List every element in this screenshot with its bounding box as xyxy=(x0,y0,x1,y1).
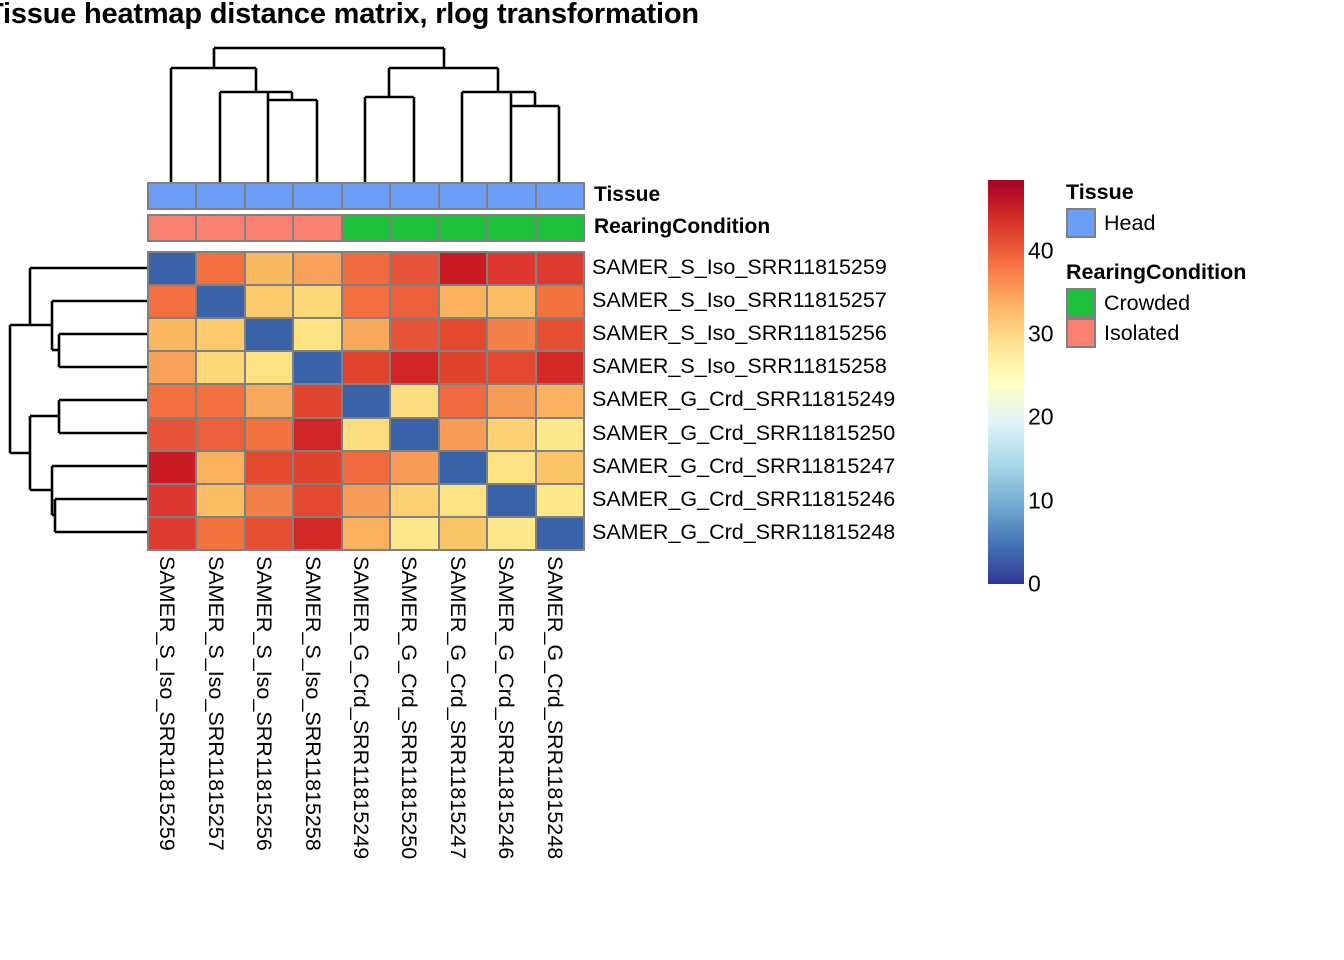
heatmap-cell xyxy=(293,252,341,285)
heatmap-cell xyxy=(342,252,390,285)
heatmap-cell xyxy=(439,484,487,517)
heatmap-cell xyxy=(196,451,244,484)
heatmap-cell xyxy=(293,351,341,384)
row-label: SAMER_G_Crd_SRR11815247 xyxy=(592,450,895,483)
heatmap-cell xyxy=(390,418,438,451)
legend-key-label: Crowded xyxy=(1104,291,1190,316)
heatmap-cell xyxy=(293,451,341,484)
heatmap-cell xyxy=(439,517,487,550)
row-label: SAMER_S_Iso_SRR11815259 xyxy=(592,251,895,284)
heatmap-cell xyxy=(536,484,584,517)
heatmap-cell xyxy=(245,351,293,384)
heatmap-cell xyxy=(148,351,196,384)
heatmap-cell xyxy=(196,484,244,517)
column-label: SAMER_G_Crd_SRR11815250 xyxy=(396,556,421,859)
row-label: SAMER_S_Iso_SRR11815258 xyxy=(592,350,895,383)
column-label: SAMER_S_Iso_SRR11815257 xyxy=(203,556,228,851)
heatmap-cell xyxy=(342,318,390,351)
heatmap-cell xyxy=(245,252,293,285)
heatmap-cell xyxy=(487,318,535,351)
heatmap-cell xyxy=(293,384,341,417)
page-title: Tissue heatmap distance matrix, rlog tra… xyxy=(0,0,986,31)
heatmap-cell xyxy=(245,418,293,451)
heatmap-cell xyxy=(196,318,244,351)
heatmap-cell xyxy=(439,318,487,351)
heatmap-cell xyxy=(536,384,584,417)
heatmap-cell xyxy=(148,418,196,451)
annotation-cell xyxy=(342,215,390,241)
heatmap-cell xyxy=(342,384,390,417)
heatmap-cell xyxy=(390,517,438,550)
heatmap-cell xyxy=(439,252,487,285)
colorbar-tick-label: 0 xyxy=(1028,571,1041,598)
heatmap-column-labels: SAMER_S_Iso_SRR11815259SAMER_S_Iso_SRR11… xyxy=(147,556,583,956)
annotation-cell xyxy=(439,183,487,209)
legend-key-label: Isolated xyxy=(1104,321,1179,346)
row-label: SAMER_G_Crd_SRR11815249 xyxy=(592,383,895,416)
annotation-cell xyxy=(390,215,438,241)
heatmap-cell xyxy=(148,517,196,550)
heatmap-cell xyxy=(487,252,535,285)
heatmap-cell xyxy=(536,351,584,384)
annotation-cell xyxy=(245,215,293,241)
heatmap-cell xyxy=(536,517,584,550)
heatmap-cell xyxy=(148,285,196,318)
heatmap-cell xyxy=(342,451,390,484)
column-label: SAMER_G_Crd_SRR11815246 xyxy=(493,556,518,859)
column-label: SAMER_G_Crd_SRR11815248 xyxy=(542,556,567,859)
legend-title: RearingCondition xyxy=(1066,260,1246,285)
heatmap-cell xyxy=(342,351,390,384)
colorbar xyxy=(988,180,1024,584)
heatmap-cell xyxy=(390,351,438,384)
annotation-label-rearingcondition: RearingCondition xyxy=(594,214,770,240)
row-label: SAMER_S_Iso_SRR11815256 xyxy=(592,317,895,350)
legend-title: Tissue xyxy=(1066,180,1134,205)
legend-swatch xyxy=(1066,208,1096,238)
heatmap-cell xyxy=(439,418,487,451)
heatmap-cell xyxy=(245,484,293,517)
colorbar-tick-label: 40 xyxy=(1028,237,1054,264)
heatmap-cell xyxy=(536,252,584,285)
row-label: SAMER_G_Crd_SRR11815246 xyxy=(592,483,895,516)
colorbar-tick-label: 30 xyxy=(1028,321,1054,348)
column-label: SAMER_S_Iso_SRR11815258 xyxy=(300,556,325,851)
heatmap-cell xyxy=(293,418,341,451)
heatmap-cell xyxy=(148,484,196,517)
heatmap-cell xyxy=(487,451,535,484)
heatmap-cell xyxy=(439,384,487,417)
annotation-cell xyxy=(439,215,487,241)
heatmap-cell xyxy=(245,451,293,484)
colorbar-gradient xyxy=(988,180,1024,584)
heatmap-cell xyxy=(196,517,244,550)
annotation-cell xyxy=(390,183,438,209)
heatmap-cell xyxy=(439,451,487,484)
heatmap-cell xyxy=(148,451,196,484)
heatmap-cell xyxy=(390,252,438,285)
heatmap-cell xyxy=(245,384,293,417)
heatmap-cell xyxy=(196,384,244,417)
heatmap-cell xyxy=(487,285,535,318)
heatmap-cell xyxy=(342,285,390,318)
heatmap-cell xyxy=(342,517,390,550)
annotation-cell xyxy=(536,215,584,241)
heatmap-cell xyxy=(390,285,438,318)
heatmap-cell xyxy=(487,351,535,384)
heatmap-cell xyxy=(148,318,196,351)
annotation-cell xyxy=(487,183,535,209)
annotation-cell xyxy=(196,215,244,241)
heatmap-cell xyxy=(439,285,487,318)
colorbar-tick-label: 10 xyxy=(1028,487,1054,514)
heatmap-cell xyxy=(245,318,293,351)
heatmap-cell xyxy=(196,252,244,285)
annotation-cell xyxy=(342,183,390,209)
annotation-bar-tissue xyxy=(147,182,585,210)
heatmap-cell xyxy=(293,318,341,351)
heatmap-cell xyxy=(487,517,535,550)
annotation-cell xyxy=(148,215,196,241)
column-label: SAMER_G_Crd_SRR11815249 xyxy=(348,556,373,859)
heatmap-cell xyxy=(245,285,293,318)
heatmap-cell xyxy=(390,384,438,417)
annotation-cell xyxy=(293,183,341,209)
heatmap-cell xyxy=(536,418,584,451)
column-label: SAMER_S_Iso_SRR11815259 xyxy=(154,556,179,851)
heatmap-cell xyxy=(487,384,535,417)
heatmap-cell xyxy=(342,484,390,517)
heatmap-cell xyxy=(293,517,341,550)
annotation-cell xyxy=(148,183,196,209)
heatmap-cell xyxy=(196,418,244,451)
legend-key-label: Head xyxy=(1104,211,1155,236)
heatmap-cell xyxy=(293,484,341,517)
legend-swatch xyxy=(1066,318,1096,348)
heatmap-cell xyxy=(536,451,584,484)
heatmap-cell xyxy=(487,484,535,517)
heatmap-cell xyxy=(148,384,196,417)
heatmap-cell xyxy=(293,285,341,318)
colorbar-tick-label: 20 xyxy=(1028,404,1054,431)
heatmap-cell xyxy=(390,484,438,517)
heatmap-grid xyxy=(147,251,585,551)
heatmap-cell xyxy=(196,351,244,384)
heatmap-cell xyxy=(390,451,438,484)
heatmap-cell xyxy=(536,318,584,351)
heatmap-cell xyxy=(245,517,293,550)
row-label: SAMER_G_Crd_SRR11815248 xyxy=(592,516,895,549)
row-label: SAMER_S_Iso_SRR11815257 xyxy=(592,284,895,317)
annotation-cell xyxy=(293,215,341,241)
heatmap-cell xyxy=(536,285,584,318)
heatmap-cell xyxy=(148,252,196,285)
annotation-bar-rearingcondition xyxy=(147,214,585,242)
annotation-cell xyxy=(487,215,535,241)
heatmap-row-labels: SAMER_S_Iso_SRR11815259SAMER_S_Iso_SRR11… xyxy=(592,251,895,549)
row-label: SAMER_G_Crd_SRR11815250 xyxy=(592,417,895,450)
annotation-cell xyxy=(245,183,293,209)
heatmap-cell xyxy=(439,351,487,384)
annotation-cell xyxy=(196,183,244,209)
annotation-label-tissue: Tissue xyxy=(594,182,660,208)
column-label: SAMER_S_Iso_SRR11815256 xyxy=(251,556,276,851)
heatmap-cell xyxy=(196,285,244,318)
annotation-cell xyxy=(536,183,584,209)
legend-swatch xyxy=(1066,288,1096,318)
heatmap-cell xyxy=(390,318,438,351)
heatmap-cell xyxy=(342,418,390,451)
heatmap-cell xyxy=(487,418,535,451)
column-label: SAMER_G_Crd_SRR11815247 xyxy=(445,556,470,859)
